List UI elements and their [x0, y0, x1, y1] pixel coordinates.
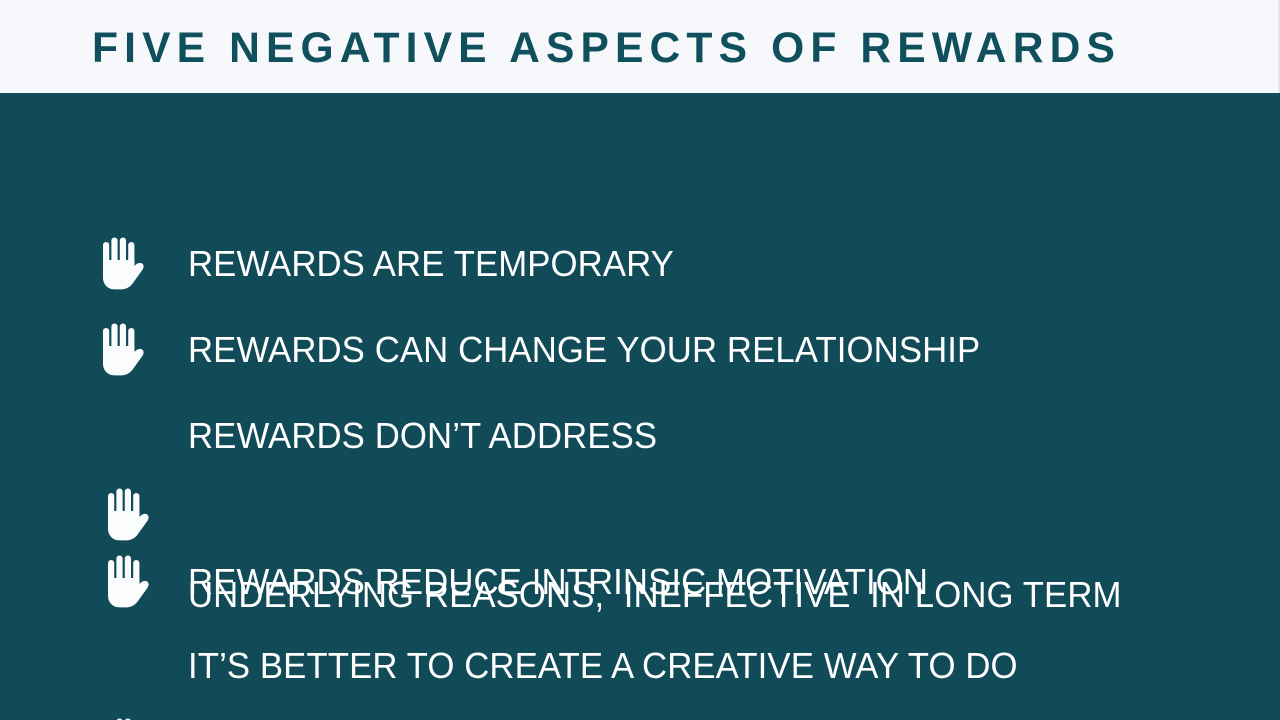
list-item-line: IT’S BETTER TO CREATE A CREATIVE WAY TO …: [188, 639, 1242, 692]
raised-hand-icon: [97, 715, 153, 720]
slide-header-band: FIVE NEGATIVE ASPECTS OF REWARDS: [0, 0, 1280, 93]
page-title: FIVE NEGATIVE ASPECTS OF REWARDS: [92, 24, 1121, 72]
list-item-text: IT’S BETTER TO CREATE A CREATIVE WAY TO …: [188, 533, 1242, 720]
bullet-list: REWARDS ARE TEMPORARY REWARDS CAN CHANGE…: [0, 93, 1280, 720]
slide-canvas: FIVE NEGATIVE ASPECTS OF REWARDS REWARDS…: [0, 0, 1280, 720]
list-item: IT’S BETTER TO CREATE A CREATIVE WAY TO …: [0, 533, 1280, 720]
